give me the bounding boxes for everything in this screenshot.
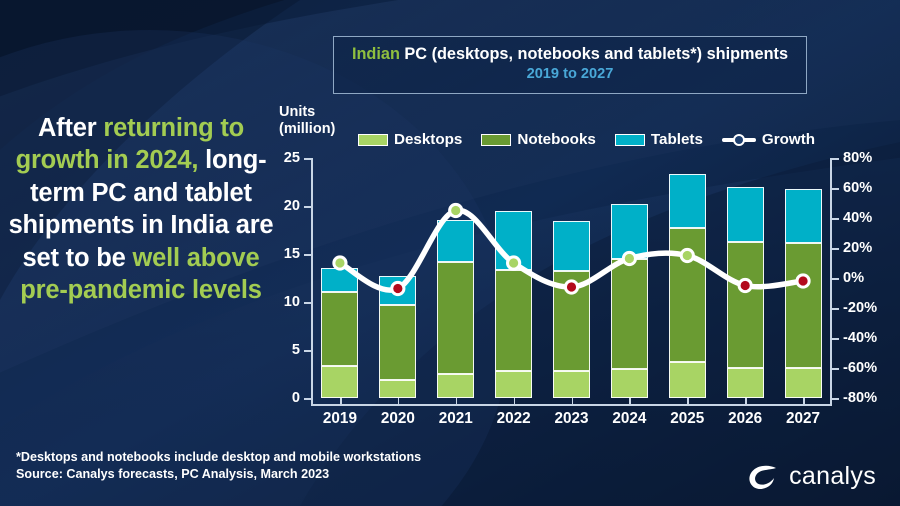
chart-title: Indian PC (desktops, notebooks and table… — [352, 45, 788, 65]
growth-marker[interactable] — [335, 258, 344, 267]
legend-label: Notebooks — [517, 131, 595, 148]
y-tick-left — [304, 302, 311, 304]
y-tick-right — [832, 308, 839, 310]
x-tick-label: 2026 — [728, 410, 762, 428]
footnote-line-1: *Desktops and notebooks include desktop … — [16, 449, 421, 466]
legend-item-desktops[interactable]: Desktops — [358, 131, 462, 148]
y-tick-left — [304, 350, 311, 352]
y-tick-label-right: 80% — [843, 150, 872, 166]
y-tick-left — [304, 206, 311, 208]
y-axis-title-line1: Units — [279, 104, 335, 121]
x-tick-label: 2021 — [439, 410, 473, 428]
legend-swatch-icon — [358, 134, 388, 146]
legend-swatch-icon — [481, 134, 511, 146]
y-tick-left — [304, 254, 311, 256]
y-tick-right — [832, 338, 839, 340]
y-tick-label-right: 40% — [843, 210, 872, 226]
legend-line-marker-icon — [722, 134, 756, 146]
canalys-swirl-icon — [746, 459, 780, 493]
x-tick-label: 2020 — [381, 410, 415, 428]
canalys-wordmark: canalys — [789, 462, 876, 491]
chart-legend: DesktopsNotebooksTabletsGrowth — [358, 131, 815, 148]
y-tick-label-left: 25 — [284, 150, 300, 166]
headline-text: After returning to growth in 2024, long-… — [8, 112, 274, 306]
legend-swatch-icon — [615, 134, 645, 146]
growth-marker[interactable] — [451, 206, 460, 215]
legend-item-notebooks[interactable]: Notebooks — [481, 131, 595, 148]
legend-item-tablets[interactable]: Tablets — [615, 131, 703, 148]
y-tick-label-right: -40% — [843, 330, 877, 346]
y-tick-label-left: 0 — [292, 390, 300, 406]
y-tick-label-left: 5 — [292, 342, 300, 358]
y-tick-right — [832, 248, 839, 250]
chart-title-highlight: Indian — [352, 45, 400, 63]
growth-marker[interactable] — [567, 282, 576, 291]
y-tick-right — [832, 158, 839, 160]
legend-item-growth[interactable]: Growth — [722, 131, 815, 148]
y-tick-right — [832, 188, 839, 190]
growth-marker[interactable] — [625, 254, 634, 263]
y-tick-right — [832, 368, 839, 370]
chart-subtitle: 2019 to 2027 — [527, 65, 614, 85]
x-tick-label: 2023 — [554, 410, 588, 428]
y-tick-label-right: -60% — [843, 360, 877, 376]
chart-title-box: Indian PC (desktops, notebooks and table… — [333, 36, 807, 94]
y-axis-title-line2: (million) — [279, 121, 335, 138]
growth-line-series — [311, 150, 832, 406]
footnote: *Desktops and notebooks include desktop … — [16, 449, 421, 484]
legend-label: Growth — [762, 131, 815, 148]
y-tick-right — [832, 278, 839, 280]
growth-marker[interactable] — [393, 284, 402, 293]
x-tick-label: 2022 — [497, 410, 531, 428]
y-tick-right — [832, 218, 839, 220]
footnote-line-2: Source: Canalys forecasts, PC Analysis, … — [16, 466, 421, 483]
headline-part-1: After — [38, 114, 103, 142]
y-axis-title: Units (million) — [279, 104, 335, 138]
y-tick-label-right: 20% — [843, 240, 872, 256]
legend-label: Desktops — [394, 131, 462, 148]
x-tick-label: 2027 — [786, 410, 820, 428]
chart-title-rest: PC (desktops, notebooks and tablets*) sh… — [400, 45, 788, 63]
x-tick-label: 2019 — [323, 410, 357, 428]
y-tick-label-right: -80% — [843, 390, 877, 406]
y-tick-label-left: 10 — [284, 294, 300, 310]
growth-marker[interactable] — [509, 258, 518, 267]
y-tick-left — [304, 158, 311, 160]
growth-marker[interactable] — [798, 276, 807, 285]
y-tick-label-left: 20 — [284, 198, 300, 214]
plot-area: 0510152025 -80%-60%-40%-20%0%20%40%60%80… — [311, 150, 832, 406]
x-tick-label: 2025 — [670, 410, 704, 428]
y-tick-label-right: -20% — [843, 300, 877, 316]
growth-marker[interactable] — [683, 251, 692, 260]
growth-marker[interactable] — [741, 281, 750, 290]
x-tick-label: 2024 — [612, 410, 646, 428]
growth-line-path — [340, 210, 803, 290]
y-tick-left — [304, 398, 311, 400]
y-tick-right — [832, 398, 839, 400]
legend-label: Tablets — [651, 131, 703, 148]
canalys-logo: canalys — [746, 459, 876, 493]
y-tick-label-left: 15 — [284, 246, 300, 262]
y-tick-label-right: 0% — [843, 270, 864, 286]
y-tick-label-right: 60% — [843, 180, 872, 196]
